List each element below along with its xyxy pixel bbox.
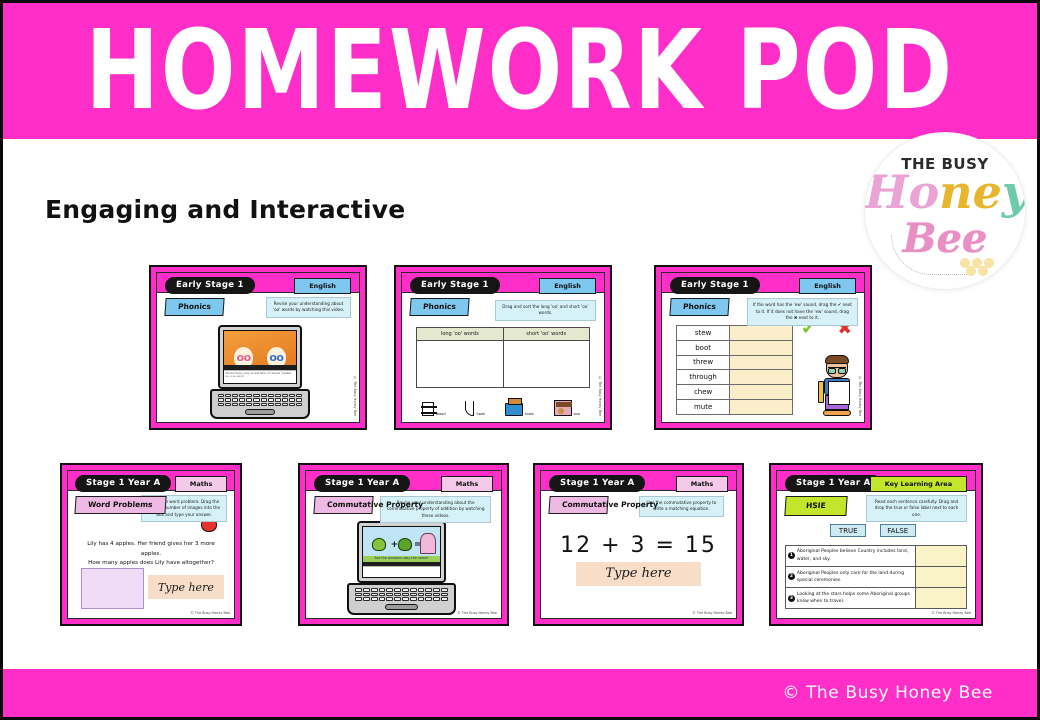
hook-icon	[465, 401, 474, 416]
stage-badge: Early Stage 1	[165, 277, 256, 294]
boy-head	[826, 359, 848, 378]
stage-badge: Early Stage 1	[670, 277, 761, 294]
statement-number: 3	[786, 588, 797, 608]
laptop-trackpad	[385, 604, 419, 610]
logo-honey-text: Honey	[865, 169, 1025, 215]
stage-badge: Early Stage 1	[410, 277, 501, 294]
copyright-text: © The Busy Honey Bee	[782, 683, 993, 703]
slide-credit: © The Busy Honey Bee	[598, 376, 602, 416]
picture-word-label: zoo	[574, 412, 580, 416]
slide-thumbnail-es1-phonics-tick[interactable]: Early Stage 1 English Phonics If the wor…	[654, 265, 872, 430]
drop-zone-short[interactable]	[504, 341, 589, 387]
word-cell: chew	[677, 385, 730, 399]
stage-badge: Stage 1 Year A	[313, 475, 410, 492]
statement-text: Aboriginal Peoples believe Country inclu…	[797, 546, 916, 566]
statement-number: 2	[786, 567, 797, 587]
instruction-box: Drag and sort the long 'oo' and short 'o…	[495, 300, 596, 321]
word-cell: boot	[677, 341, 730, 355]
plus-icon: +	[391, 540, 399, 550]
slide-credit: © The Busy Honey Bee	[692, 611, 732, 615]
table-row[interactable]: 2 Aboriginal Peoples only care for the l…	[786, 567, 966, 588]
laptop-screen: + = But the answers stay the same!	[362, 526, 442, 578]
sorting-table-header: long 'oo' words short 'oo' words	[417, 328, 589, 341]
video-metadata	[363, 566, 441, 577]
statement-answer-dropzone[interactable]	[916, 567, 966, 587]
answer-cell[interactable]	[730, 356, 792, 370]
drop-zone-long[interactable]	[417, 341, 503, 387]
stage-badge: Stage 1 Year A	[784, 475, 881, 492]
paper-icon	[828, 381, 850, 405]
kla-badge: Maths	[441, 476, 493, 492]
topic-tab[interactable]: Phonics	[409, 298, 469, 316]
equation-display: 12 + 3 = 15	[541, 533, 736, 558]
boy-shoes	[823, 410, 851, 416]
topic-tab[interactable]: Phonics	[164, 298, 224, 316]
sort-column-header-long: long 'oo' words	[417, 328, 503, 340]
section-subtitle: Engaging and Interactive	[45, 195, 405, 224]
slide-credit: © The Busy Honey Bee	[190, 611, 230, 615]
word-problem-line-1: Lily has 4 apples. Her friend gives her …	[78, 540, 224, 559]
laptop-lid: oo oo Phonics Song | Long 'oo' and Short…	[218, 325, 303, 389]
laptop-trackpad	[245, 409, 276, 415]
laptop-base	[210, 389, 310, 419]
picture-word-label: wood	[436, 412, 446, 416]
false-label-button[interactable]: FALSE	[880, 524, 916, 537]
table-row[interactable]: 3 Looking at the stars helps some Aborig…	[786, 588, 966, 608]
stage-badge: Stage 1 Year A	[548, 475, 645, 492]
kla-badge: Maths	[175, 476, 227, 492]
laptop-lid: + = But the answers stay the same!	[357, 521, 447, 583]
slide-canvas: Stage 1 Year A Maths Word Problems Read …	[67, 470, 235, 619]
honeycomb-icon	[957, 257, 1003, 277]
toolbox-icon	[505, 403, 523, 416]
wood-icon	[422, 402, 434, 416]
answer-cell[interactable]	[730, 400, 792, 414]
video-frog-thumbnail: + = But the answers stay the same!	[363, 527, 441, 577]
answer-cell[interactable]	[730, 385, 792, 399]
statement-text: Aboriginal Peoples only care for the lan…	[797, 567, 916, 587]
slide-credit: © The Busy Honey Bee	[858, 376, 862, 416]
laptop-keyboard	[218, 394, 303, 406]
picture-word-zoo[interactable]: zoo	[554, 400, 580, 416]
homework-pod-page: HOMEWORK POD THE BUSY Honey Bee Engaging…	[0, 0, 1040, 720]
laptop-screen: oo oo Phonics Song | Long 'oo' and Short…	[223, 330, 298, 384]
word-problem-text: Lily has 4 apples. Her friend gives her …	[78, 540, 224, 569]
frog-icon-2	[398, 538, 412, 551]
slide-canvas: Early Stage 1 English Phonics Revise you…	[156, 272, 360, 423]
word-cell: mute	[677, 400, 730, 414]
true-label-button[interactable]: TRUE	[830, 524, 866, 537]
picture-word-label: hook	[476, 412, 485, 416]
statement-number: 1	[786, 546, 797, 566]
sort-column-header-short: short 'oo' words	[504, 328, 589, 340]
table-row[interactable]: through	[677, 370, 792, 385]
table-row[interactable]: boot	[677, 341, 792, 356]
pencil-icon	[818, 381, 824, 403]
kla-badge: English	[539, 278, 596, 294]
slide-credit: © The Busy Honey Bee	[931, 611, 971, 615]
answer-cell[interactable]	[730, 326, 792, 340]
kla-badge: English	[294, 278, 351, 294]
answer-input[interactable]: Type here	[148, 575, 224, 599]
page-title: HOMEWORK POD	[86, 16, 955, 126]
table-row[interactable]: stew	[677, 326, 792, 341]
table-row[interactable]: 1 Aboriginal Peoples believe Country inc…	[786, 546, 966, 567]
boy-hair	[825, 355, 849, 364]
slide-canvas: Stage 1 Year A Maths Commutative Propert…	[305, 470, 502, 619]
statement-answer-dropzone[interactable]	[916, 588, 966, 608]
picture-word-tools[interactable]: tools	[505, 403, 534, 416]
laptop-keyboard	[355, 588, 448, 601]
topic-tab[interactable]: Commutative Property	[313, 496, 373, 514]
stage-badge: Stage 1 Year A	[74, 475, 171, 492]
footer-band: © The Busy Honey Bee	[3, 669, 1037, 717]
answer-cell[interactable]	[730, 370, 792, 384]
word-cell: threw	[677, 356, 730, 370]
answer-input[interactable]: Type here	[576, 562, 701, 586]
slide-thumbnail-es1-phonics-video[interactable]: Early Stage 1 English Phonics Revise you…	[149, 265, 367, 430]
glasses-icon	[828, 367, 846, 373]
laptop-illustration: + = But the answers stay the same!	[357, 521, 447, 615]
table-row[interactable]: mute	[677, 400, 792, 414]
laptop-base	[347, 583, 456, 615]
slide-credit: © The Busy Honey Bee	[353, 376, 357, 416]
sorting-table[interactable]: long 'oo' words short 'oo' words	[416, 327, 590, 388]
kla-badge: English	[799, 278, 856, 294]
answer-cell[interactable]	[730, 341, 792, 355]
header-band: HOMEWORK POD	[3, 3, 1037, 139]
slide-thumbnail-s1a-hsie-truefalse[interactable]: Stage 1 Year A Key Learning Area HSIE Re…	[769, 463, 983, 626]
topic-tab[interactable]: HSIE	[784, 496, 847, 516]
boy-illustration	[820, 359, 854, 416]
kla-badge: Key Learning Area	[870, 476, 967, 492]
table-row[interactable]: threw	[677, 356, 792, 371]
slide-canvas: Early Stage 1 English Phonics Drag and s…	[401, 272, 605, 423]
statement-answer-dropzone[interactable]	[916, 546, 966, 566]
slide-canvas: Early Stage 1 English Phonics If the wor…	[661, 272, 865, 423]
slide-thumbnail-es1-phonics-sort[interactable]: Early Stage 1 English Phonics Drag and s…	[394, 265, 612, 430]
word-cell: stew	[677, 326, 730, 340]
word-answer-table[interactable]: stew boot threw through chew	[676, 325, 793, 414]
picture-word-hook[interactable]: hook	[465, 401, 485, 416]
frog-icon-1	[372, 538, 386, 551]
video-metadata: Phonics Song | Long 'oo' and Short 'oo' …	[224, 370, 297, 384]
table-row[interactable]: chew	[677, 385, 792, 400]
image-drop-box[interactable]	[81, 568, 144, 609]
brand-logo: THE BUSY Honey Bee	[865, 133, 1025, 289]
slide-thumbnail-s1a-word-problems[interactable]: Stage 1 Year A Maths Word Problems Read …	[60, 463, 242, 626]
instruction-box: Revise your understanding about 'oo' wor…	[266, 297, 351, 318]
instruction-box: If the word has the 'ew' sound, drag the…	[747, 298, 858, 326]
sorting-table-body[interactable]	[417, 341, 589, 387]
word-cell: through	[677, 370, 730, 384]
statement-text: Looking at the stars helps some Aborigin…	[797, 588, 916, 608]
picture-word-wood[interactable]: wood	[422, 402, 446, 416]
topic-tab[interactable]: Word Problems	[74, 496, 166, 514]
kla-badge: Maths	[676, 476, 728, 492]
slide-canvas: Stage 1 Year A Key Learning Area HSIE Re…	[776, 470, 976, 619]
slide-thumbnail-s1a-commutative-video[interactable]: Stage 1 Year A Maths Commutative Propert…	[298, 463, 509, 626]
statements-table[interactable]: 1 Aboriginal Peoples believe Country inc…	[785, 545, 967, 610]
topic-tab[interactable]: Phonics	[669, 298, 729, 316]
slide-thumbnail-s1a-commutative-equation[interactable]: Stage 1 Year A Maths Commutative Propert…	[533, 463, 744, 626]
picture-word-row: wood hook tools zoo	[412, 388, 590, 416]
video-oo-thumbnail: oo oo Phonics Song | Long 'oo' and Short…	[224, 331, 297, 383]
picture-word-label: tools	[525, 412, 534, 416]
topic-tab[interactable]: Commutative Property	[548, 496, 608, 514]
zoo-icon	[554, 400, 572, 416]
slide-credit: © The Busy Honey Bee	[457, 611, 497, 615]
video-caption: But the answers stay the same!	[367, 556, 435, 560]
laptop-illustration: oo oo Phonics Song | Long 'oo' and Short…	[218, 325, 303, 419]
instruction-box: Read each sentence carefully. Drag and d…	[866, 495, 967, 523]
slide-canvas: Stage 1 Year A Maths Commutative Propert…	[540, 470, 737, 619]
princess-icon	[420, 533, 436, 554]
